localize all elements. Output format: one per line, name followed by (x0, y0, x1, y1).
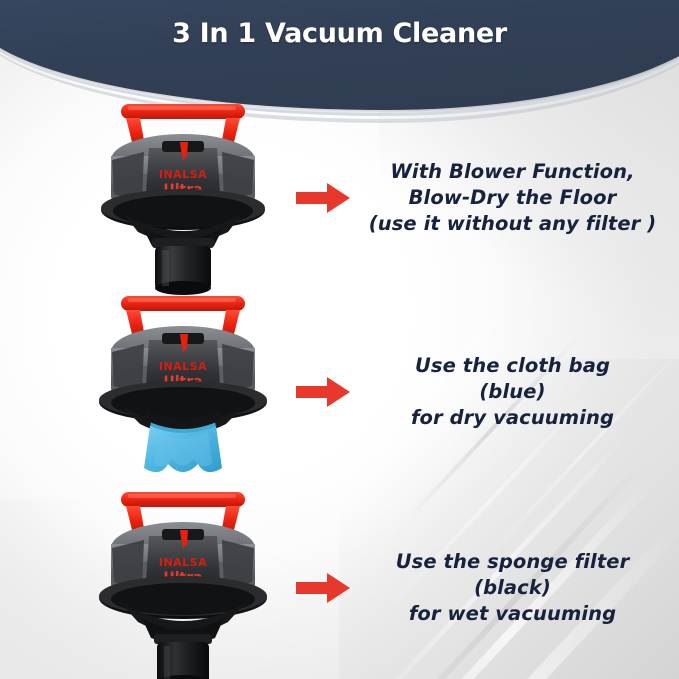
caption-line: (use it without any filter ) (360, 211, 665, 237)
feature-row-blower: INALSA Ultra (0, 98, 679, 298)
vacuum-illustration-black-sponge-filter: INALSA Ultra (88, 488, 278, 679)
caption-line: (blue) (360, 379, 665, 405)
feature-row-wet-vacuuming: INALSA Ultra (0, 488, 679, 679)
arrow-right-icon (294, 571, 352, 605)
caption-line: Blow-Dry the Floor (360, 185, 665, 211)
arrow-right-icon (294, 181, 352, 215)
product-image-cloth-bag: INALSA Ultra (0, 292, 285, 492)
arrow-right-icon (294, 375, 352, 409)
black-sponge-filter (154, 634, 212, 679)
caption-dry-vacuuming: Use the cloth bag (blue) for dry vacuumi… (360, 353, 679, 431)
caption-blower: With Blower Function, Blow-Dry the Floor… (360, 159, 679, 237)
svg-text:INALSA: INALSA (159, 556, 207, 569)
caption-line: Use the sponge filter (360, 549, 665, 575)
product-image-sponge-filter: INALSA Ultra (0, 488, 285, 679)
page-title: 3 In 1 Vacuum Cleaner (0, 18, 679, 49)
caption-line: for wet vacuuming (360, 601, 665, 627)
caption-line: for dry vacuuming (360, 405, 665, 431)
caption-line: With Blower Function, (360, 159, 665, 185)
vacuum-illustration-blue-cloth-bag: INALSA Ultra (88, 292, 278, 492)
svg-text:INALSA: INALSA (159, 360, 207, 373)
product-infographic: 3 In 1 Vacuum Cleaner (0, 0, 679, 679)
caption-line: Use the cloth bag (360, 353, 665, 379)
vacuum-illustration-no-attachment: INALSA Ultra (88, 98, 278, 298)
product-image-blower: INALSA Ultra (0, 98, 285, 298)
caption-line: (black) (360, 575, 665, 601)
arrow-cell (285, 571, 360, 605)
arrow-cell (285, 375, 360, 409)
caption-wet-vacuuming: Use the sponge filter (black) for wet va… (360, 549, 679, 627)
feature-row-dry-vacuuming: INALSA Ultra (0, 292, 679, 492)
arrow-cell (285, 181, 360, 215)
svg-text:INALSA: INALSA (159, 168, 207, 181)
